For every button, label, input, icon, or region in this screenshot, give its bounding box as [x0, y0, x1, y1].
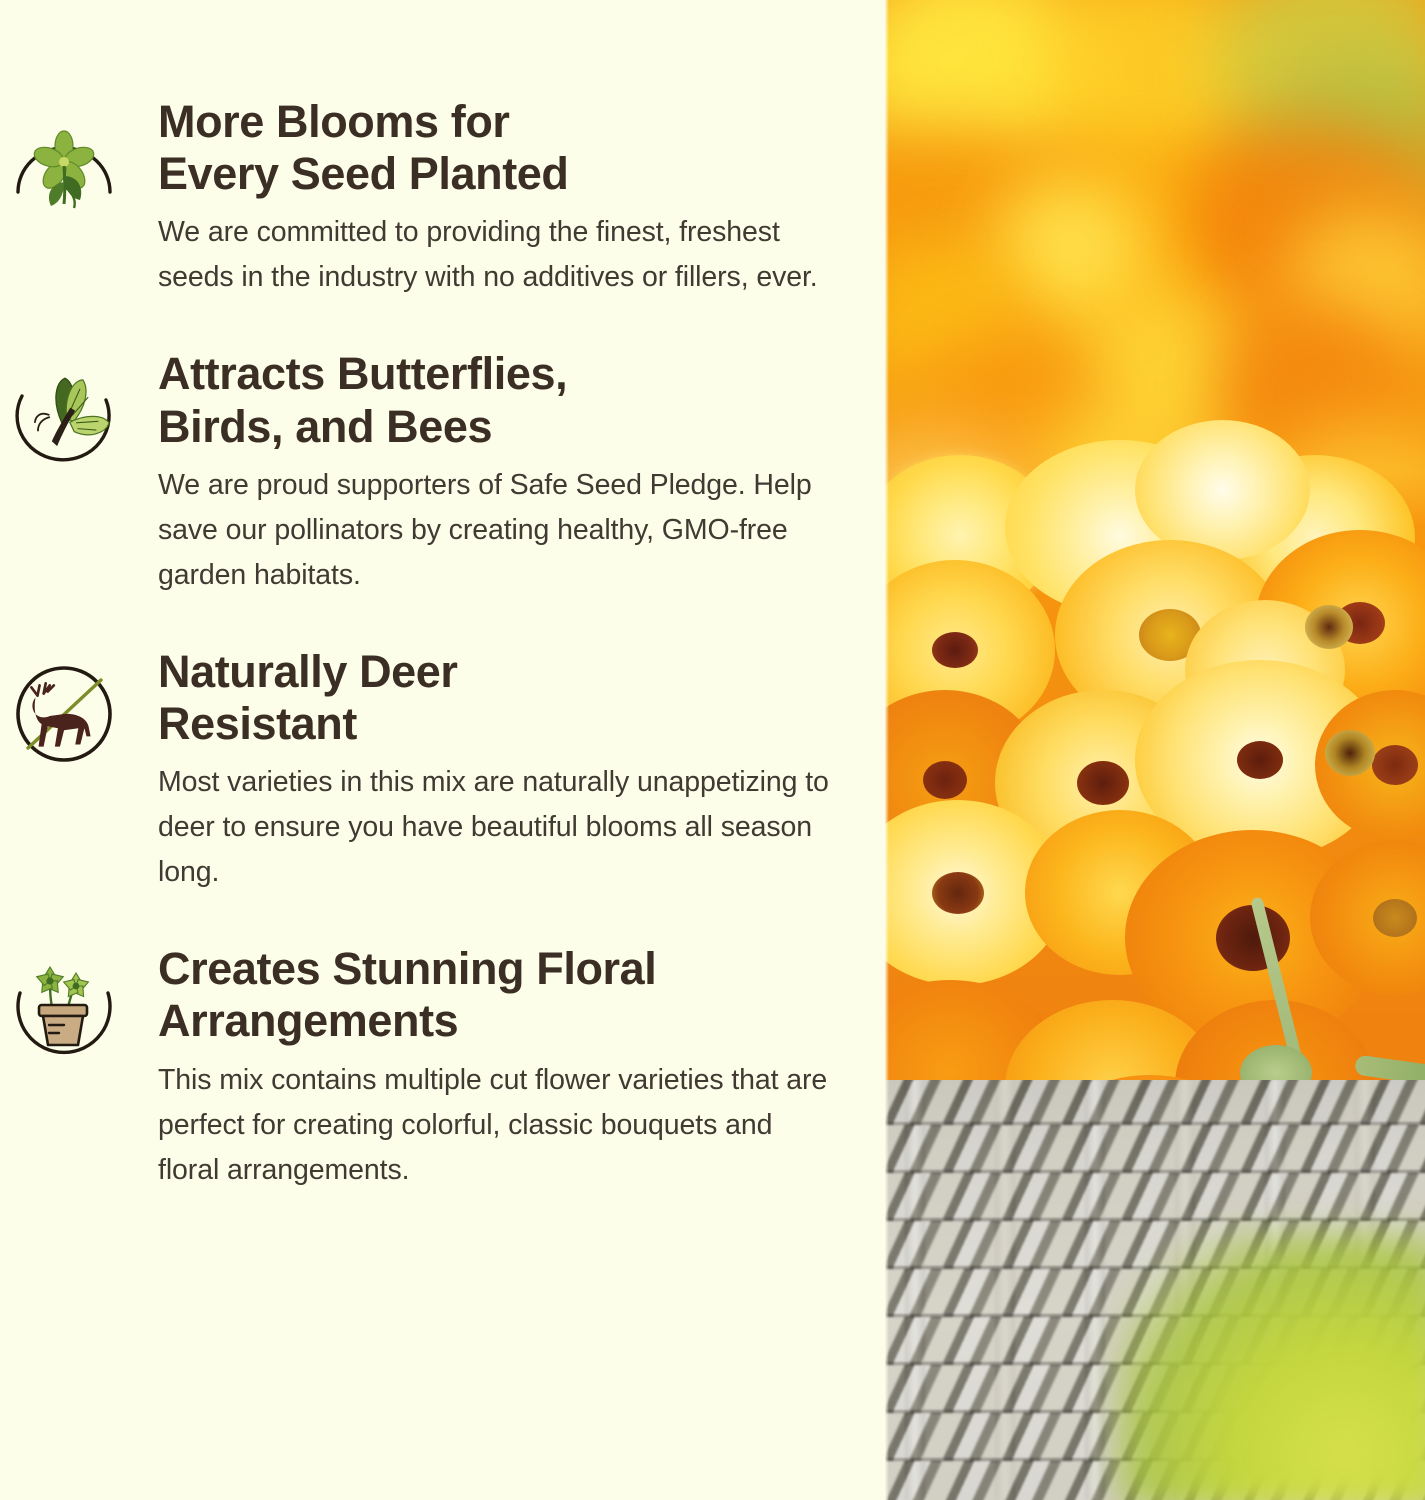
benefit-item-attracts-pollinators: Attracts Butterflies, Birds, and Bees We…: [0, 348, 885, 597]
benefit-item-floral-arrangements: Creates Stunning Floral Arrangements Thi…: [0, 943, 885, 1192]
potted-flowers-icon: [6, 953, 122, 1069]
benefit-title: Creates Stunning Floral Arrangements: [158, 943, 841, 1047]
photo-wicker-basket: [885, 1080, 1425, 1500]
benefits-panel: More Blooms for Every Seed Planted We ar…: [0, 0, 885, 1500]
photo-grass-blur: [1115, 1230, 1425, 1500]
benefit-text-block: Attracts Butterflies, Birds, and Bees We…: [122, 348, 885, 597]
calendula-flowers-in-wicker-basket-photo: [885, 0, 1425, 1500]
benefit-title: More Blooms for Every Seed Planted: [158, 96, 841, 200]
benefit-text-block: Creates Stunning Floral Arrangements Thi…: [122, 943, 885, 1192]
photo-left-edge-fade: [885, 0, 889, 1500]
benefit-title: Naturally Deer Resistant: [158, 646, 841, 750]
benefit-title: Attracts Butterflies, Birds, and Bees: [158, 348, 841, 452]
benefit-item-deer-resistant: Naturally Deer Resistant Most varieties …: [0, 646, 885, 895]
benefit-body: We are committed to providing the finest…: [158, 210, 841, 300]
no-deer-icon: [6, 656, 122, 772]
benefit-body: We are proud supporters of Safe Seed Ple…: [158, 463, 841, 598]
benefit-body: This mix contains multiple cut flower va…: [158, 1058, 841, 1193]
benefit-item-more-blooms: More Blooms for Every Seed Planted We ar…: [0, 96, 885, 300]
butterfly-icon: [6, 358, 122, 474]
flower-sprout-icon: [6, 106, 122, 222]
benefit-text-block: Naturally Deer Resistant Most varieties …: [122, 646, 885, 895]
benefit-body: Most varieties in this mix are naturally…: [158, 760, 841, 895]
product-benefits-page: More Blooms for Every Seed Planted We ar…: [0, 0, 1425, 1500]
benefit-text-block: More Blooms for Every Seed Planted We ar…: [122, 96, 885, 300]
